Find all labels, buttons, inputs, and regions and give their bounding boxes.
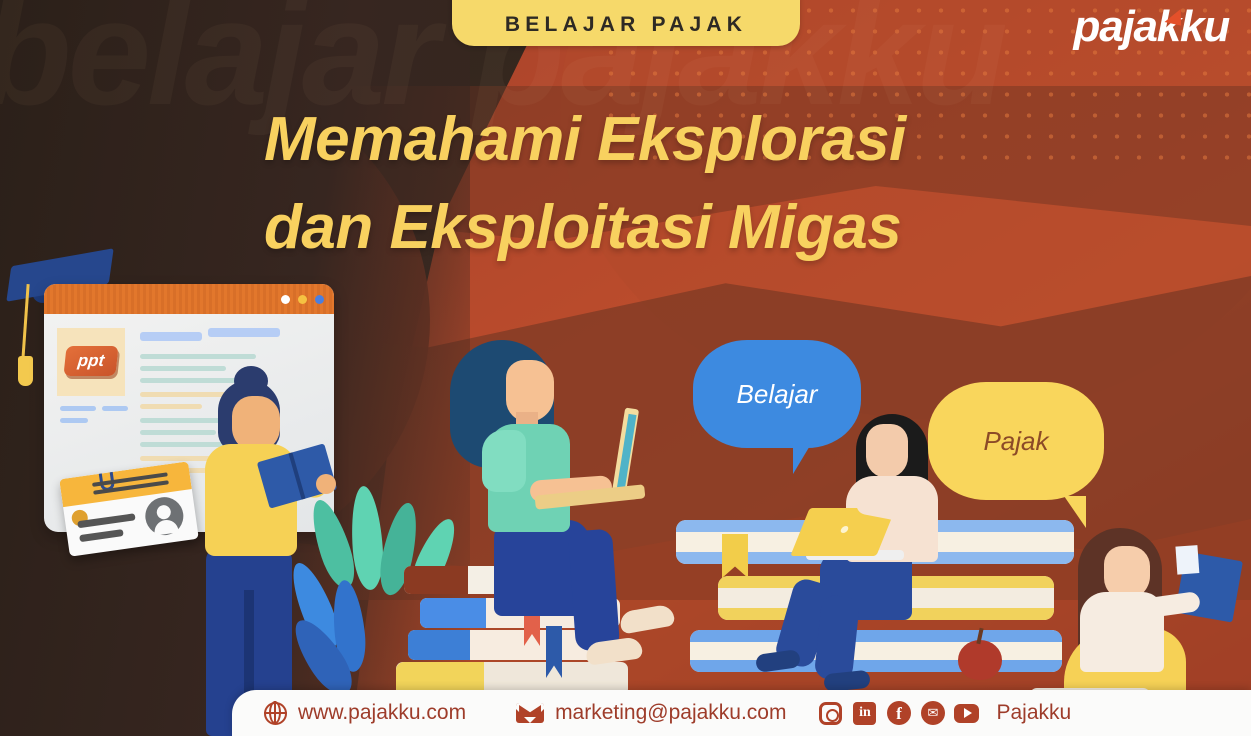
youtube-icon[interactable] bbox=[954, 701, 979, 726]
facebook-icon[interactable]: f bbox=[886, 701, 911, 726]
speech-bubble-belajar: Belajar bbox=[693, 340, 861, 448]
speech-bubble-pajak-text: Pajak bbox=[983, 426, 1048, 457]
contact-footer-bar: www.pajakku.com marketing@pajakku.com in… bbox=[232, 690, 1251, 736]
website-item[interactable]: www.pajakku.com bbox=[264, 701, 466, 725]
envelope-icon bbox=[516, 703, 544, 723]
ppt-badge-icon: ppt bbox=[63, 346, 118, 376]
website-text: www.pajakku.com bbox=[298, 701, 466, 725]
badge-label: BELAJAR PAJAK bbox=[505, 13, 747, 37]
belajar-pajak-badge: BELAJAR PAJAK bbox=[452, 0, 800, 46]
browser-titlebar bbox=[44, 284, 334, 314]
social-handle-text: Pajakku bbox=[996, 701, 1071, 725]
email-item[interactable]: marketing@pajakku.com bbox=[516, 701, 786, 725]
title-line-2: dan Eksploitasi Migas bbox=[264, 184, 1024, 272]
email-text: marketing@pajakku.com bbox=[555, 701, 786, 725]
social-links: in f ✉ Pajakku bbox=[818, 701, 1071, 726]
poster-canvas: belajar pajakku BELAJAR PAJAK pajakku Me… bbox=[0, 0, 1251, 736]
pajakku-logo: pajakku bbox=[1074, 2, 1229, 52]
instagram-icon[interactable] bbox=[818, 701, 843, 726]
speech-bubble-pajak: Pajak bbox=[928, 382, 1104, 500]
title-line-1: Memahami Eksplorasi bbox=[264, 105, 906, 174]
twitter-icon[interactable]: ✉ bbox=[920, 701, 945, 726]
globe-icon bbox=[264, 702, 287, 725]
page-title: Memahami Eksplorasi dan Eksploitasi Miga… bbox=[264, 96, 1024, 272]
avatar-icon bbox=[143, 495, 186, 538]
logo-accent-icon bbox=[1164, 6, 1184, 25]
speech-bubble-belajar-text: Belajar bbox=[737, 379, 818, 410]
linkedin-icon[interactable]: in bbox=[852, 701, 877, 726]
apple-icon bbox=[958, 640, 1002, 680]
logo-text: pajakku bbox=[1074, 2, 1229, 51]
